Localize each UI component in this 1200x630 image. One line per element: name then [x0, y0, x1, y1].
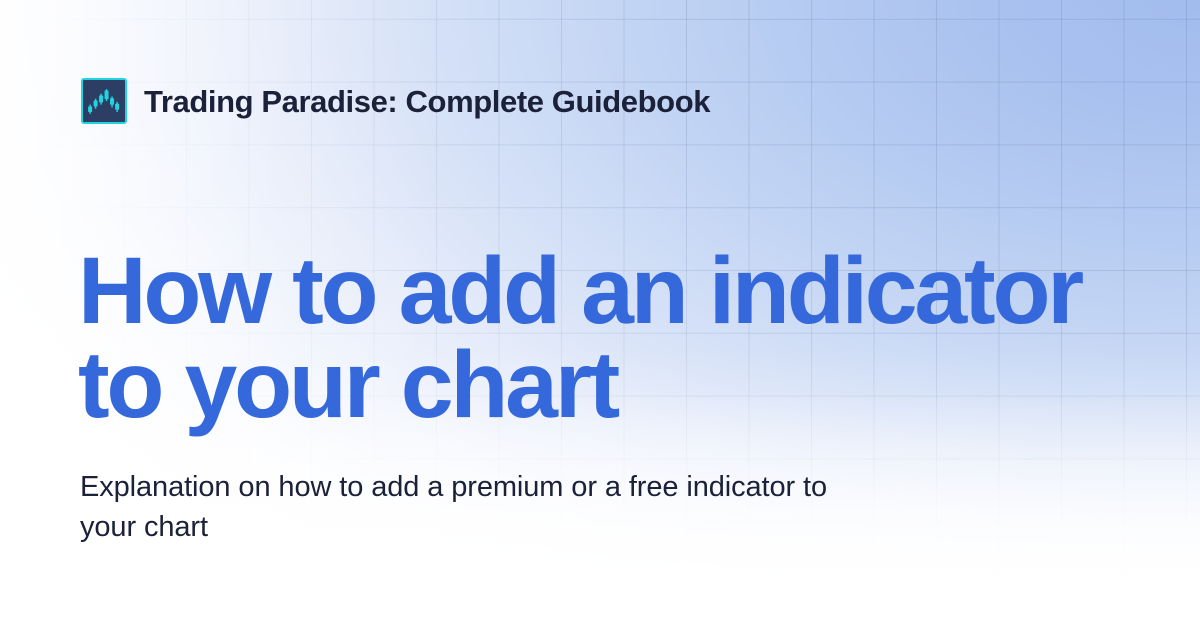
page-title: How to add an indicator to your chart	[78, 244, 1128, 432]
page-subtitle: Explanation on how to add a premium or a…	[80, 468, 860, 547]
og-banner-card: Trading Paradise: Complete Guidebook How…	[0, 0, 1200, 630]
brand-title: Trading Paradise: Complete Guidebook	[144, 86, 710, 117]
brand-header: Trading Paradise: Complete Guidebook	[81, 78, 710, 124]
card-content: Trading Paradise: Complete Guidebook How…	[0, 0, 1200, 630]
candlestick-chart-icon	[81, 78, 127, 124]
